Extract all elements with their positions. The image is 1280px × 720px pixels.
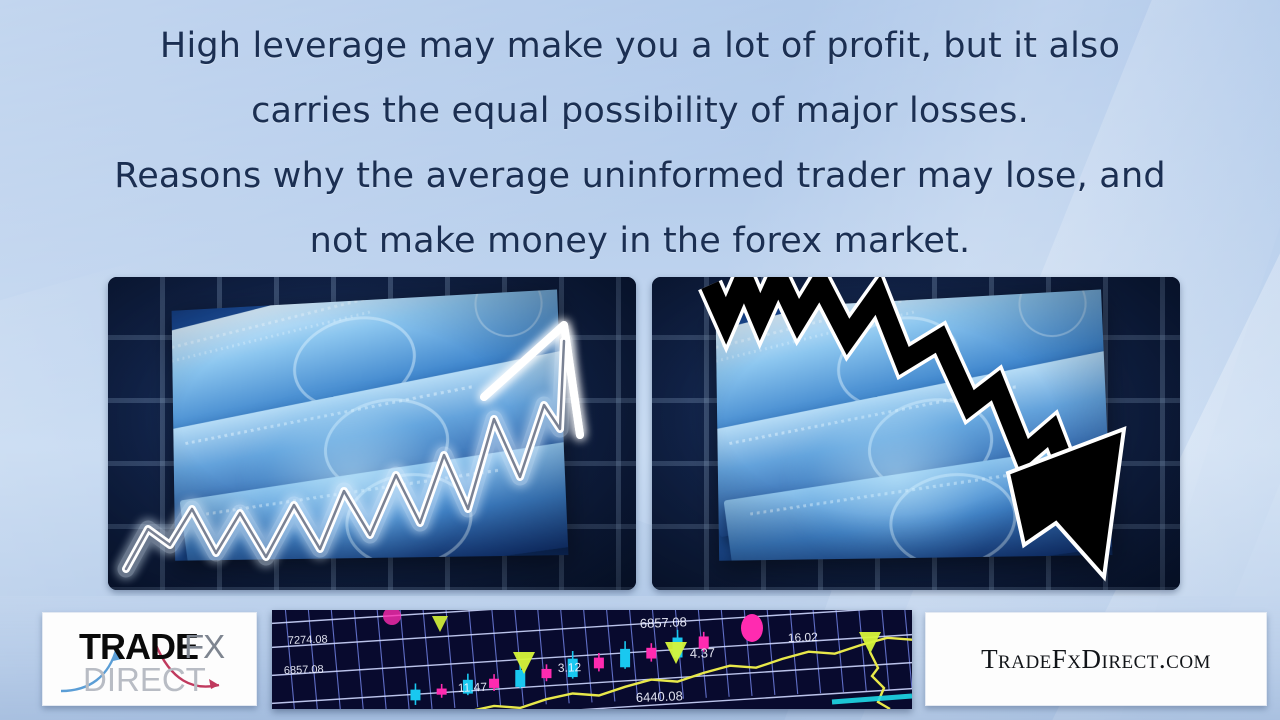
website-url-box[interactable]: TradeFxDirect.com [925, 612, 1267, 706]
website-url-text: TradeFxDirect.com [981, 644, 1211, 675]
trading-chart-strip[interactable]: 7274.086857.0811.473.126857.084.376440.0… [272, 610, 912, 709]
rising-arrow-icon [108, 277, 636, 590]
svg-text:3.12: 3.12 [558, 660, 582, 675]
svg-text:6857.08: 6857.08 [640, 614, 688, 631]
loss-image-panel: 5 4 [652, 277, 1180, 590]
svg-text:7274.08: 7274.08 [288, 633, 328, 647]
slide-canvas: High leverage may make you a lot of prof… [0, 0, 1280, 720]
svg-text:6440.08: 6440.08 [636, 688, 684, 705]
svg-text:16.02: 16.02 [788, 630, 819, 645]
headline-line-2: carries the equal possibility of major l… [0, 79, 1280, 144]
headline-line-3: Reasons why the average uninformed trade… [0, 144, 1280, 209]
svg-text:11.47: 11.47 [458, 680, 488, 695]
logo-word-trade: TRADE [79, 629, 198, 665]
headline-line-1: High leverage may make you a lot of prof… [0, 14, 1280, 79]
headline-text-block: High leverage may make you a lot of prof… [0, 14, 1280, 274]
svg-text:6857.08: 6857.08 [284, 663, 324, 677]
profit-image-panel: 5 4 [108, 277, 636, 590]
logo-word-direct: DIRECT [83, 663, 206, 696]
svg-text:4.37: 4.37 [690, 645, 716, 661]
headline-line-4: not make money in the forex market. [0, 209, 1280, 274]
falling-arrow-icon [652, 277, 1180, 590]
chart-canvas: 7274.086857.0811.473.126857.084.376440.0… [272, 610, 912, 709]
brand-logo[interactable]: TRADE FX DIRECT [42, 612, 257, 706]
logo-word-fx: FX [184, 630, 224, 663]
